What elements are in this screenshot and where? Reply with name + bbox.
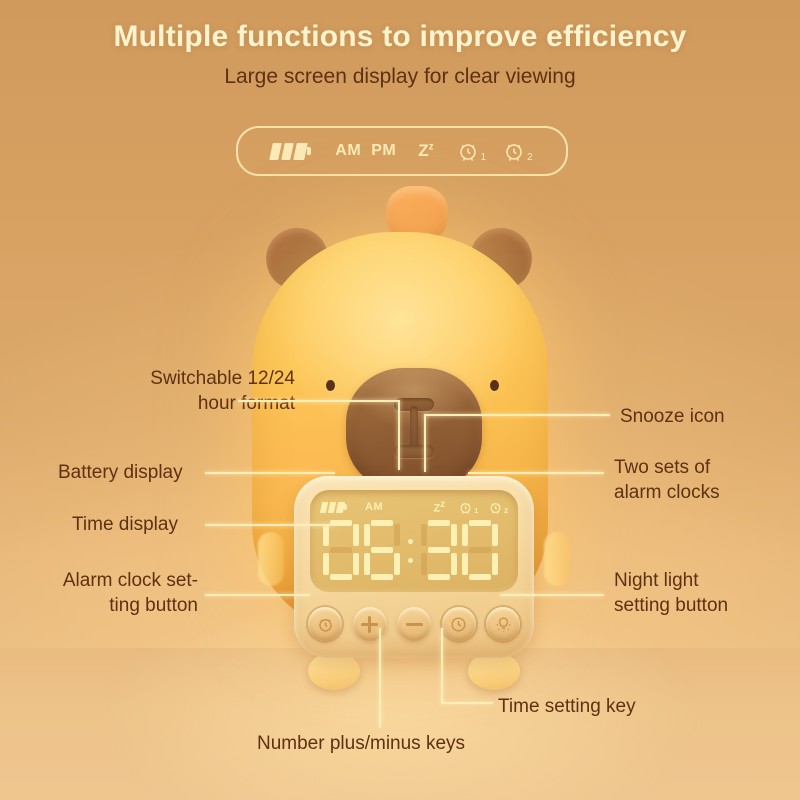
leader-snooze-h (424, 414, 610, 416)
callout-switchable-format: Switchable 12/24 hour format (60, 366, 295, 416)
page-subtitle: Large screen display for clear viewing (0, 65, 800, 89)
callout-time-setting-key: Time setting key (498, 694, 636, 719)
callout-snooze-icon: Snooze icon (620, 404, 725, 429)
time-display (322, 520, 502, 580)
callout-night-light: Night light setting button (614, 568, 728, 618)
colon-separator (404, 520, 417, 580)
lcd-am-indicator: AM (365, 501, 383, 513)
leader-switchable-format-h (238, 400, 400, 402)
feature-pill: AM PM Zz 1 2 (236, 126, 568, 176)
device-body: AM Zz 1 2 (252, 232, 548, 632)
left-side-glow (258, 532, 284, 586)
callout-alarm-setting: Alarm clock set- ting button (38, 568, 198, 618)
lcd-snooze-icon: Zz (433, 499, 445, 515)
leader-battery-display (205, 472, 335, 474)
time-setting-button[interactable] (442, 607, 476, 641)
alarm-2-icon: 2 (502, 139, 533, 163)
right-side-glow (544, 532, 570, 586)
muzzle (346, 368, 482, 492)
minus-icon (406, 616, 423, 633)
callout-battery-display: Battery display (58, 460, 183, 485)
leader-switchable-format-v (398, 400, 400, 470)
left-eye (326, 380, 335, 391)
battery-icon (271, 143, 311, 160)
callout-two-alarms: Two sets of alarm clocks (614, 455, 720, 505)
digit-hour-tens (322, 520, 360, 580)
minus-button[interactable] (397, 607, 431, 641)
lcd-screen: AM Zz 1 2 (310, 490, 518, 592)
capybara-alarm-clock: AM Zz 1 2 (238, 186, 562, 656)
am-label: AM (335, 142, 361, 160)
callout-time-display: Time display (72, 512, 178, 537)
button-row (308, 604, 520, 644)
plus-button[interactable] (353, 607, 387, 641)
digit-hour-ones (363, 520, 401, 580)
alarm-1-icon: 1 (456, 139, 487, 163)
leader-time-setting-h (441, 702, 493, 704)
lcd-battery-icon (321, 502, 347, 513)
front-panel: AM Zz 1 2 (294, 476, 534, 658)
leader-night-light (500, 594, 604, 596)
leader-snooze-v (424, 414, 426, 472)
night-light-button[interactable] (486, 607, 520, 641)
digit-minute-tens (420, 520, 458, 580)
lcd-status-row: AM Zz 1 2 (321, 499, 508, 515)
snooze-icon: Zz (418, 141, 433, 161)
right-eye (490, 380, 499, 391)
lcd-alarm-2-icon: 2 (488, 500, 508, 515)
lcd-alarm-1-icon: 1 (458, 500, 478, 515)
infographic-canvas: Multiple functions to improve efficiency… (0, 0, 800, 800)
leader-alarm-setting (205, 594, 310, 596)
leader-two-alarms (468, 472, 604, 474)
pm-label: PM (371, 142, 396, 160)
alarm-setting-button[interactable] (308, 607, 342, 641)
leader-time-setting-v (441, 628, 443, 704)
callout-plus-minus-keys: Number plus/minus keys (257, 731, 465, 756)
page-title: Multiple functions to improve efficiency (0, 20, 800, 54)
digit-minute-ones (461, 520, 499, 580)
plus-icon (361, 616, 378, 633)
leader-plus-minus-v (379, 628, 381, 728)
leader-time-display (205, 524, 335, 526)
